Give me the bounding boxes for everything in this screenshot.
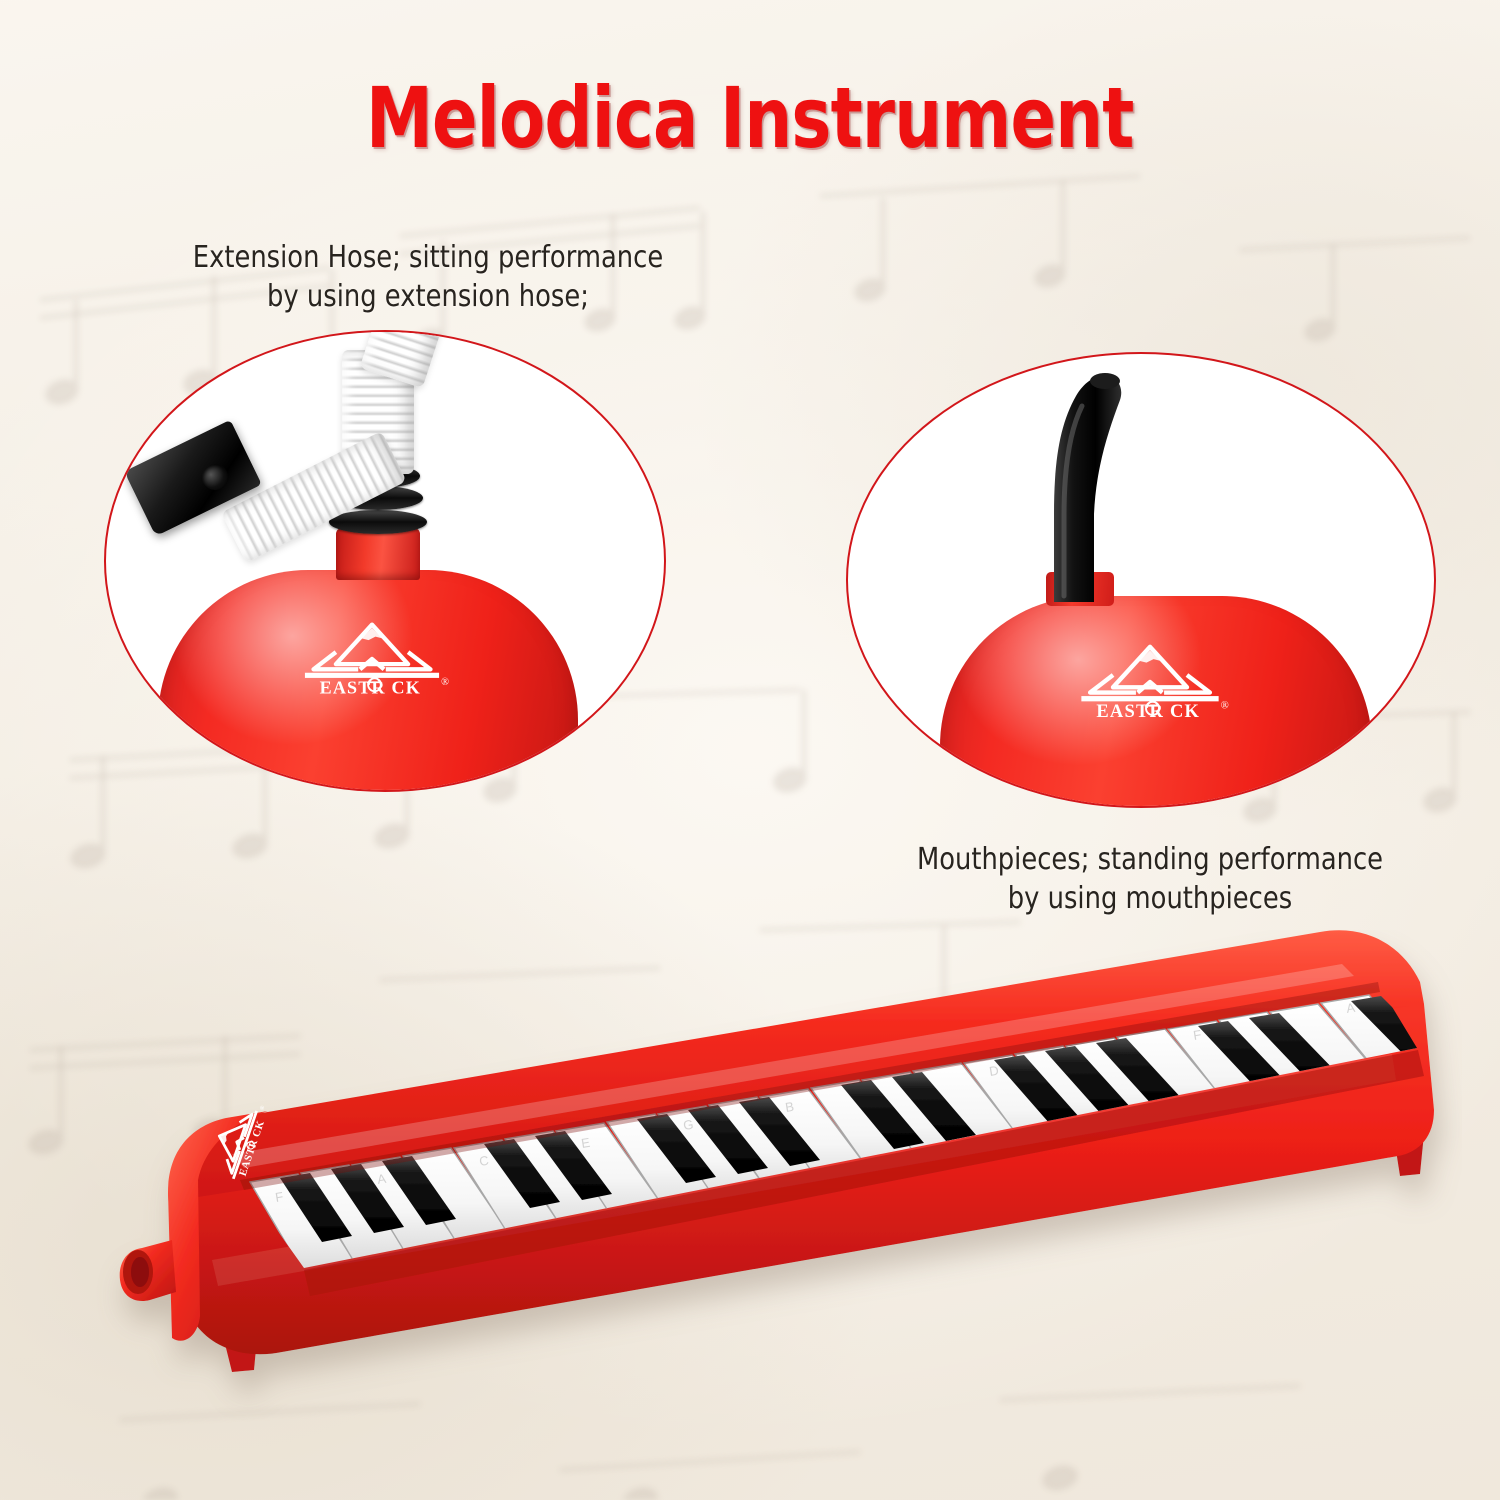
page-title: Melodica Instrument	[366, 76, 1134, 160]
eastrock-logo: EASTR CK ®	[1062, 638, 1238, 719]
red-threaded-socket	[336, 528, 420, 580]
mountain-range-icon: EASTR CK ®	[286, 616, 458, 695]
melodica-body: F A C E G B D F A	[120, 930, 1450, 1372]
caption-mouthpieces: Mouthpieces; standing performance by usi…	[849, 840, 1451, 918]
melodica-illustration: F A C E G B D F A	[72, 930, 1462, 1430]
collar-ring	[329, 510, 427, 534]
melodica-body-stub: EASTR CK ®	[940, 596, 1372, 808]
svg-text:EASTR CK: EASTR CK	[1096, 701, 1200, 719]
inset-mouthpiece-stage: EASTR CK ®	[848, 354, 1434, 806]
svg-text:EASTR CK: EASTR CK	[320, 677, 421, 695]
svg-text:®: ®	[441, 677, 449, 688]
air-release-nozzle[interactable]	[120, 1240, 176, 1301]
inset-extension-hose-stage: EASTR CK ®	[106, 332, 664, 790]
eastrock-logo: EASTR CK ®	[286, 616, 458, 695]
curved-black-mouthpiece	[968, 364, 1198, 604]
inset-extension-hose: EASTR CK ®	[104, 330, 666, 792]
inset-mouthpiece: EASTR CK ®	[846, 352, 1436, 808]
title-container: Melodica Instrument	[0, 76, 1500, 160]
svg-text:®: ®	[258, 1104, 266, 1111]
melodica-product-image: F A C E G B D F A	[72, 930, 1462, 1430]
mountain-range-icon: EASTR CK ®	[1062, 638, 1238, 719]
svg-text:®: ®	[1221, 700, 1229, 711]
caption-extension-hose: Extension Hose; sitting performance by u…	[127, 238, 729, 316]
melodica-body-stub: EASTR CK ®	[158, 570, 578, 792]
